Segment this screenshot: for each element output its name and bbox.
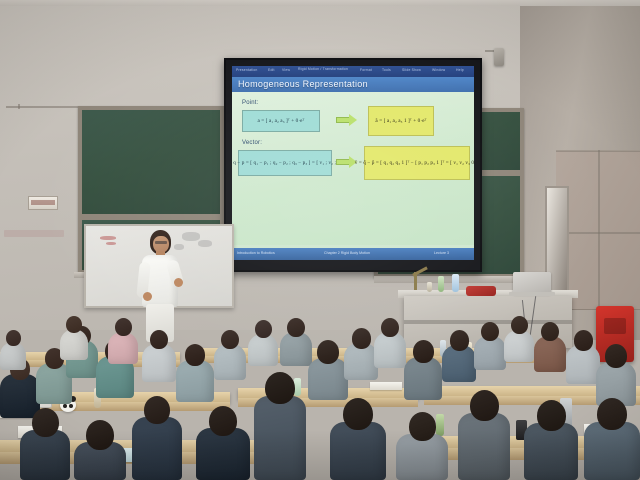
student-head: [537, 400, 566, 431]
student-torso: [142, 344, 176, 382]
student: [442, 330, 476, 382]
wall-speaker: [494, 48, 504, 66]
student-torso: [344, 343, 378, 380]
point-result-equation: ã = [ a₁ a₂ a₃ 1 ]ᵀ + 0·eᵀ: [375, 118, 426, 124]
menu-item-6: Slide Show: [402, 68, 421, 72]
slide-label-point: Point:: [242, 100, 259, 106]
menu-item-4: Format: [360, 68, 372, 72]
student-head: [221, 330, 239, 349]
student: [132, 396, 182, 480]
student-head: [144, 396, 170, 424]
cup: [427, 282, 432, 292]
student-torso: [374, 332, 406, 368]
whiteboard-marking: [198, 240, 212, 247]
wall-painted-text: [4, 230, 64, 237]
student: [60, 316, 88, 360]
student: [458, 390, 510, 480]
student-torso: [566, 345, 600, 384]
student-head: [32, 408, 59, 437]
classroom-photograph: Presentation Edit View Rigid Motion / Tr…: [0, 0, 640, 480]
slide-footer-bar: Introduction to Robotics Chapter 2 Rigid…: [232, 248, 474, 260]
student-head: [86, 420, 114, 450]
chalkboard-left-upper: [82, 110, 220, 214]
slide-menu-bar: Presentation Edit View Rigid Motion / Tr…: [232, 66, 474, 77]
student: [596, 344, 636, 406]
student-head: [574, 330, 593, 351]
student-torso: [458, 413, 510, 480]
student-head: [115, 318, 132, 336]
student: [196, 406, 250, 480]
podium-laptop-lid: [513, 272, 551, 294]
podium-lamp: [414, 272, 417, 290]
student-head: [511, 316, 528, 334]
student-torso: [214, 344, 246, 380]
student: [396, 412, 448, 480]
lecturer: [136, 230, 184, 342]
student-torso: [108, 332, 138, 364]
menu-item-1: Edit: [268, 68, 275, 72]
student: [176, 344, 214, 402]
student-head: [481, 322, 499, 341]
projected-slide: Presentation Edit View Rigid Motion / Tr…: [232, 66, 474, 260]
student-head: [66, 316, 82, 333]
student-torso: [524, 423, 578, 480]
student: [108, 318, 138, 364]
student-head: [605, 344, 627, 368]
menu-item-8: Help: [456, 68, 464, 72]
point-source-equation: a = [ a₁ a₂ a₃ ]ᵀ + 0·eᵀ: [257, 118, 304, 124]
student: [524, 400, 578, 480]
chalkboard-divider: [82, 214, 220, 220]
student-torso: [20, 430, 70, 480]
whiteboard-marking: [182, 232, 200, 241]
student-torso: [196, 428, 250, 480]
student-torso: [442, 345, 476, 382]
water-bottle: [438, 276, 444, 292]
student: [584, 398, 640, 480]
point-source-box: a = [ a₁ a₂ a₃ ]ᵀ + 0·eᵀ: [242, 110, 320, 132]
student: [20, 408, 70, 480]
wall-seam: [598, 150, 600, 310]
student: [504, 316, 534, 362]
student: [248, 320, 278, 366]
red-bag: [466, 286, 496, 296]
student: [474, 322, 506, 370]
student-head: [209, 406, 237, 436]
menu-item-7: Window: [432, 68, 445, 72]
student-torso: [0, 342, 26, 370]
vector-source-box: v = q − p = [ q₁ − p₁ ; q₂ − p₂ ; q₃ − p…: [238, 150, 332, 176]
vector-source-equation: v = q − p = [ q₁ − p₁ ; q₂ − p₂ ; q₃ − p…: [232, 160, 345, 166]
student: [254, 372, 306, 480]
student-head: [287, 318, 305, 337]
student-head: [409, 412, 436, 441]
student-torso: [330, 422, 386, 480]
student: [74, 420, 126, 480]
student-head: [317, 340, 339, 364]
slide-footer-center: Chapter 2 Rigid Body Motion: [324, 251, 370, 255]
student-head: [185, 344, 205, 366]
student-torso: [474, 336, 506, 370]
student: [404, 340, 442, 400]
student-head: [450, 330, 469, 351]
student-head: [413, 340, 434, 363]
whiteboard-marking-red: [100, 236, 116, 240]
slide-title: Homogeneous Representation: [238, 79, 368, 89]
chalk-tray: [374, 276, 526, 283]
slide-label-vector: Vector:: [242, 140, 262, 146]
slide-footer-left: Introduction to Robotics: [237, 251, 275, 255]
student: [214, 330, 246, 380]
student: [374, 318, 406, 368]
menu-item-2: View: [282, 68, 290, 72]
student-head: [343, 398, 373, 430]
student-head: [541, 322, 559, 341]
student: [330, 398, 386, 480]
transform-arrow-point: [336, 114, 360, 126]
menu-item-3: Rigid Motion / Transformation: [298, 67, 348, 71]
vector-result-equation: ṽ = q̃ − p̃ = [ q₁ q₂ q₃ 1 ]ᵀ − [ p₁ p₂ …: [355, 160, 474, 166]
student-torso: [534, 336, 566, 372]
lecturer-hand-right: [174, 278, 183, 287]
red-equipment-cabinet-slot: [604, 318, 626, 334]
student-head: [381, 318, 399, 337]
student-torso: [60, 329, 88, 360]
student-torso: [254, 396, 306, 480]
student: [308, 340, 348, 400]
lecturer-hand-left: [143, 292, 152, 301]
student-torso: [584, 422, 640, 480]
student-torso: [132, 417, 182, 480]
slide-body: Point: a = [ a₁ a₂ a₃ ]ᵀ + 0·eᵀ ã = [ a₁…: [232, 92, 474, 245]
student: [344, 328, 378, 380]
student-torso: [308, 358, 348, 400]
point-result-box: ã = [ a₁ a₂ a₃ 1 ]ᵀ + 0·eᵀ: [368, 106, 434, 136]
student: [142, 330, 176, 382]
eyeglasses-icon: [155, 241, 167, 244]
slide-footer-right: Lecture 3: [434, 251, 449, 255]
student-torso: [504, 330, 534, 362]
menu-item-5: Tools: [382, 68, 391, 72]
student: [0, 330, 26, 370]
ceiling-edge: [0, 0, 640, 6]
student-head: [6, 330, 21, 346]
student-head: [265, 372, 295, 404]
vector-result-box: ṽ = q̃ − p̃ = [ q₁ q₂ q₃ 1 ]ᵀ − [ p₁ p₂ …: [364, 146, 470, 180]
whiteboard-marking-red: [106, 242, 116, 245]
student-torso: [248, 334, 278, 366]
student-head: [470, 390, 499, 421]
student-torso: [404, 357, 442, 400]
student-head: [255, 320, 272, 338]
menu-item-0: Presentation: [236, 68, 257, 72]
podium-laptop-base: [509, 292, 555, 296]
student-head: [597, 398, 627, 430]
papers: [370, 382, 402, 390]
student: [534, 322, 566, 372]
student-head: [150, 330, 168, 349]
wall-conduit-clip: [18, 104, 20, 109]
student-head: [352, 328, 371, 349]
wall-notice-sign-text: [31, 200, 55, 205]
water-bottle: [452, 274, 459, 292]
student: [566, 330, 600, 384]
